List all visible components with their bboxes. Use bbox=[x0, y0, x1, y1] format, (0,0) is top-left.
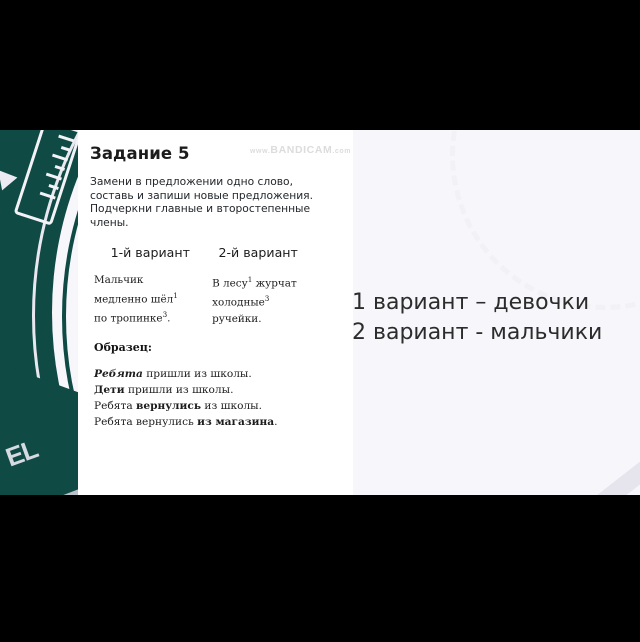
variant-1-line-1: Мальчик bbox=[94, 272, 208, 288]
variant-1-text: Мальчик медленно шёл1 по тропинке3. bbox=[88, 272, 208, 327]
variant-2-line-2: холодные3 bbox=[212, 291, 343, 310]
variant-1-line-2: медленно шёл1 bbox=[94, 288, 208, 307]
content-card: Задание 5 Замени в предложении одно слов… bbox=[78, 130, 353, 495]
variant-2-line-2-text: холодные bbox=[212, 297, 265, 309]
watermark-suffix: .com bbox=[332, 148, 351, 155]
sample-line-3: Ребята вернулись из школы. bbox=[94, 398, 343, 414]
variant-2-text: В лесу1 журчат холодные3 ручейки. bbox=[208, 272, 343, 327]
variant-1-line-3: по тропинке3. bbox=[94, 307, 208, 326]
variant-2-line-1-text: В лесу bbox=[212, 277, 248, 289]
variant-2-heading: 2-й вариант bbox=[213, 245, 344, 260]
overlay-line-2: 2 вариант - мальчики bbox=[352, 318, 602, 348]
sample-line-2-bold: Дети bbox=[94, 384, 125, 396]
sample-line-3-bold: вернулись bbox=[136, 400, 201, 412]
sample-line-1: Ребята пришли из школы. bbox=[94, 366, 343, 382]
sample-label: Образец: bbox=[94, 341, 343, 354]
variant-1-heading: 1-й вариант bbox=[88, 245, 213, 260]
bandicam-watermark: www.BANDICAM.com bbox=[250, 144, 351, 156]
variant-1-line-1-text: Мальчик bbox=[94, 274, 143, 286]
variant-1-line-3-period: . bbox=[167, 313, 170, 325]
sample-line-3-rest: из школы. bbox=[201, 400, 262, 412]
variant-1-line-2-superscript: 1 bbox=[173, 291, 178, 300]
variant-assignment-overlay: 1 вариант – девочки 2 вариант - мальчики bbox=[352, 288, 602, 348]
sample-line-4-bold: из магазина bbox=[197, 416, 274, 428]
variant-2-line-3-text: ручейки. bbox=[212, 313, 261, 325]
variant-1-line-2-text: медленно шёл bbox=[94, 293, 173, 305]
overlay-line-1: 1 вариант – девочки bbox=[352, 288, 602, 318]
variant-bodies-row: Мальчик медленно шёл1 по тропинке3. В ле… bbox=[88, 272, 343, 327]
video-player-frame: EL Задание 5 Замени в предложении одно с… bbox=[0, 0, 640, 642]
variant-headings-row: 1-й вариант 2-й вариант bbox=[88, 245, 343, 260]
variant-2-line-3: ручейки. bbox=[212, 311, 343, 327]
variant-2-line-2-superscript: 3 bbox=[265, 294, 270, 303]
sample-line-1-bold: Ребята bbox=[94, 368, 143, 380]
sample-line-1-rest: пришли из школы. bbox=[143, 368, 252, 380]
variant-2-line-1-text-end: журчат bbox=[252, 277, 296, 289]
sample-line-2-rest: пришли из школы. bbox=[125, 384, 234, 396]
sample-line-2: Дети пришли из школы. bbox=[94, 382, 343, 398]
watermark-prefix: www. bbox=[250, 148, 270, 155]
sample-line-4-pre: Ребята вернулись bbox=[94, 416, 197, 428]
variant-1-line-3-text: по тропинке bbox=[94, 313, 163, 325]
sample-line-4-rest: . bbox=[274, 416, 277, 428]
presentation-slide: EL Задание 5 Замени в предложении одно с… bbox=[0, 130, 640, 495]
sample-line-3-pre: Ребята bbox=[94, 400, 136, 412]
variant-2-line-1: В лесу1 журчат bbox=[212, 272, 343, 291]
sample-line-4: Ребята вернулись из магазина. bbox=[94, 414, 343, 430]
watermark-brand: BANDICAM bbox=[270, 144, 332, 156]
task-instruction: Замени в предложении одно слово, составь… bbox=[90, 175, 330, 229]
